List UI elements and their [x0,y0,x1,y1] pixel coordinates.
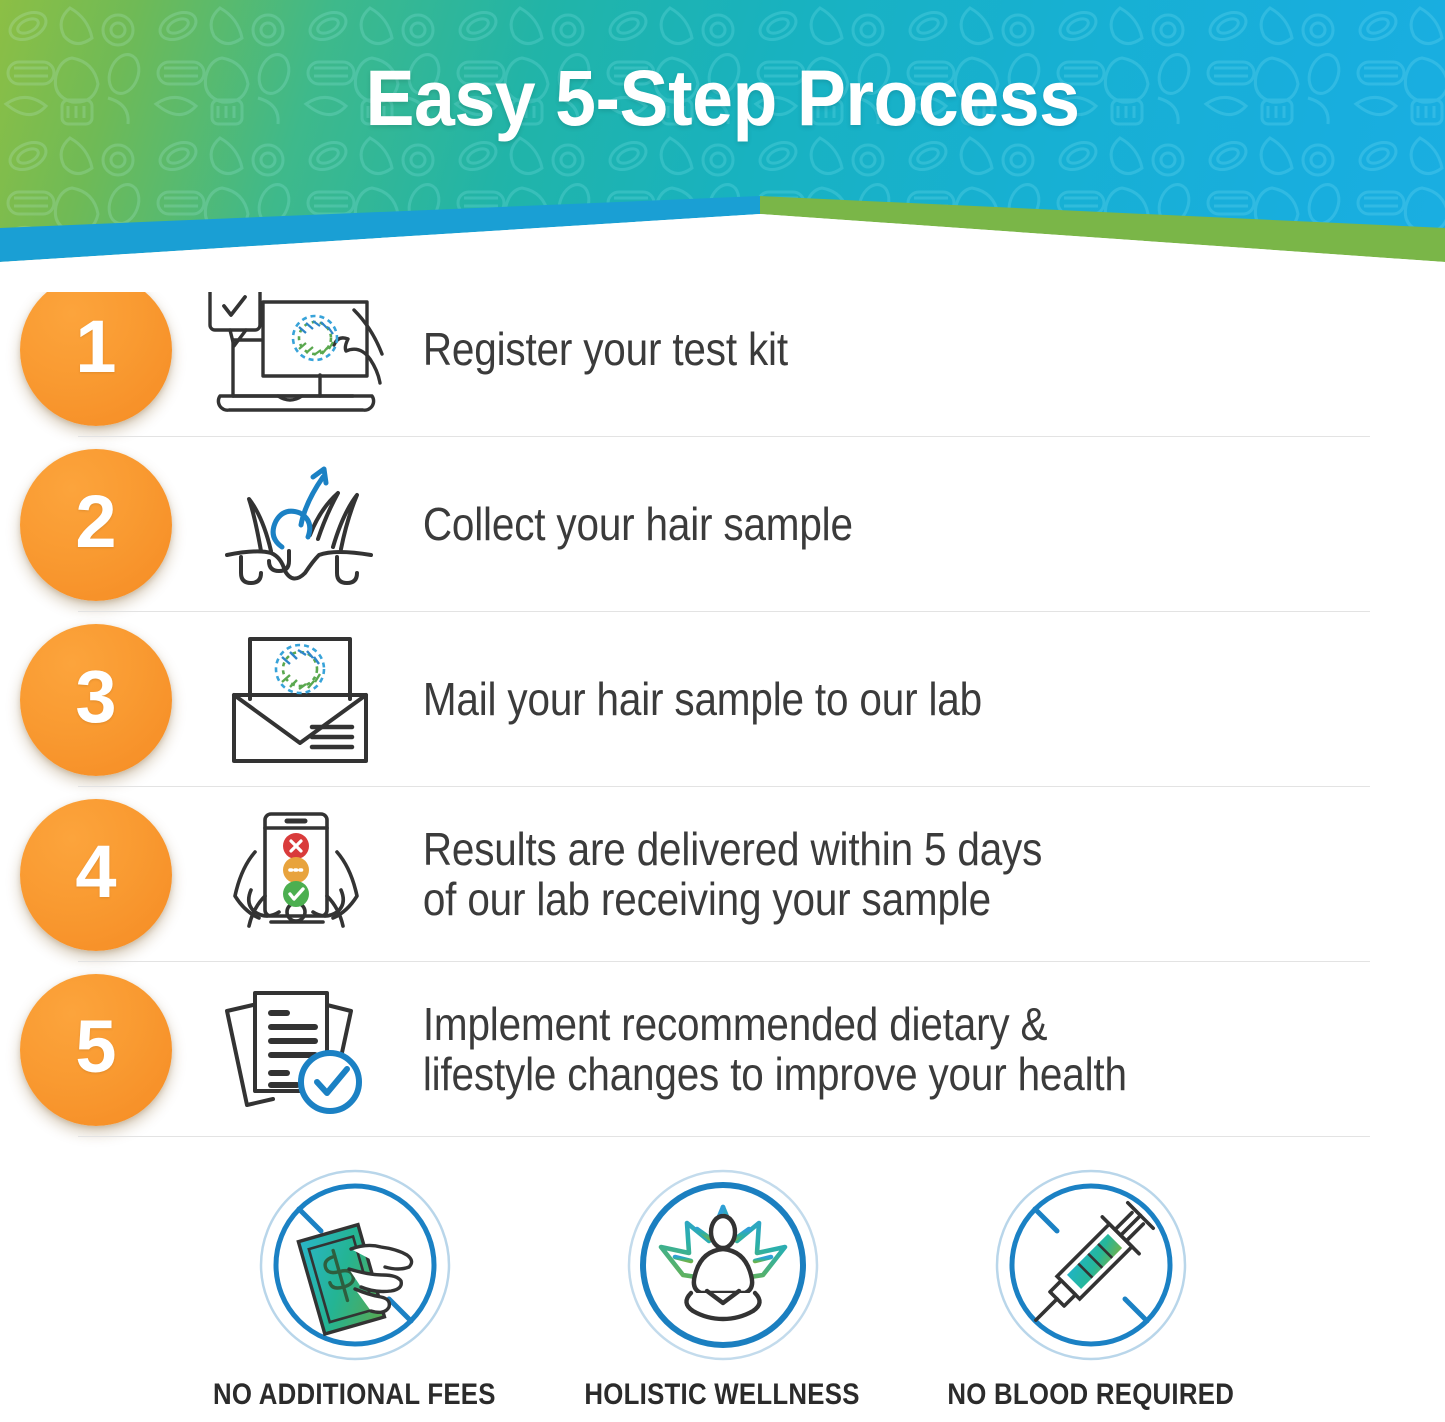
envelope-dna-mail-icon [192,625,407,775]
badge-no-blood-required: NO BLOOD REQUIRED [946,1160,1236,1412]
step-row: 5 [0,962,1445,1137]
step-number: 5 [20,974,172,1126]
hair-follicle-sample-icon [192,450,407,600]
step-label: Collect your hair sample [407,500,1320,550]
step-number-badge: 5 [0,974,192,1126]
step-number-badge: 3 [0,624,192,776]
step-number-badge: 4 [0,799,192,951]
step-number: 3 [20,624,172,776]
badge-no-additional-fees: NO ADDITIONAL FEES [210,1160,500,1412]
step-number-badge: 1 [0,274,192,426]
step-row: 4 [0,787,1445,962]
page-title: Easy 5-Step Process [51,52,1395,144]
no-money-fees-icon [250,1160,460,1370]
step-row: 2 [0,437,1445,612]
laptop-register-kit-icon [192,275,407,425]
meditation-lotus-icon [618,1160,828,1370]
no-syringe-blood-icon [986,1160,1196,1370]
badge-label: HOLISTIC WELLNESS [585,1378,860,1412]
step-label: Results are delivered within 5 days of o… [407,825,1320,924]
step-number: 1 [20,274,172,426]
header-banner: Easy 5-Step Process [0,0,1445,292]
badge-label: NO ADDITIONAL FEES [213,1378,496,1412]
step-number-badge: 2 [0,449,192,601]
steps-list: 1 [0,262,1445,1137]
step-row: 3 [0,612,1445,787]
badge-holistic-wellness: HOLISTIC WELLNESS [578,1160,868,1412]
trust-badges: NO ADDITIONAL FEES [0,1160,1445,1412]
badge-label: NO BLOOD REQUIRED [947,1378,1234,1412]
header-chevron-shape [0,0,1445,292]
step-number: 2 [20,449,172,601]
step-label: Mail your hair sample to our lab [407,675,1320,725]
documents-checkmark-icon [192,975,407,1125]
step-label: Implement recommended dietary & lifestyl… [407,1000,1320,1099]
step-label: Register your test kit [407,325,1320,375]
step-number: 4 [20,799,172,951]
step-divider [78,1136,1370,1137]
phone-results-icon [192,800,407,950]
